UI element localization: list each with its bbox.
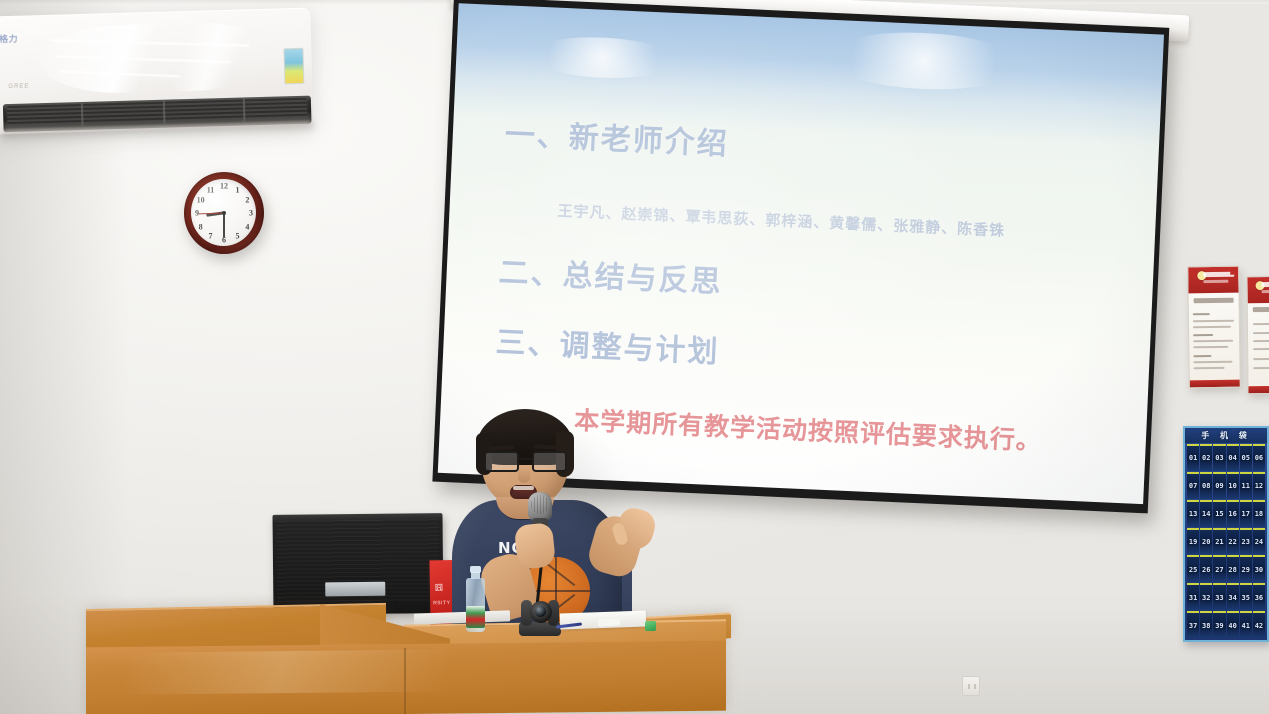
pocket-cell: 41: [1240, 611, 1252, 638]
poster-line: [1252, 323, 1269, 325]
pocket-cell: 25: [1187, 555, 1199, 582]
poster-header-subtext: [1261, 290, 1269, 293]
outlet-slot: [968, 684, 970, 689]
glasses-bridge: [519, 458, 532, 460]
pocket-cell: 19: [1187, 528, 1199, 555]
poster-line: [1253, 339, 1269, 341]
pocket-cell: 17: [1240, 500, 1252, 527]
ptz-camera: [519, 598, 561, 636]
poster-line: [1193, 340, 1233, 343]
pocket-cell: 30: [1253, 555, 1265, 582]
pocket-chart-title: 手 机 袋: [1185, 428, 1267, 443]
slide-cloud: [823, 29, 1025, 94]
ac-brand-logo: 格力: [0, 32, 18, 45]
clock-numeral: 1: [236, 185, 240, 194]
pocket-chart-grid: 0102030405060708091011121314151617181920…: [1187, 444, 1265, 638]
small-white-object: [598, 618, 620, 626]
bottle-label: [466, 606, 485, 628]
wall-clock: 121234567891011: [184, 172, 264, 254]
pocket-cell: 14: [1200, 500, 1212, 527]
slide-names-line: 王宇凡、赵崇锦、覃韦思荻、郭梓涵、黄馨儒、张雅静、陈香铢: [557, 200, 1006, 241]
pocket-cell: 28: [1227, 555, 1239, 582]
pocket-cell: 07: [1187, 472, 1199, 499]
clock-numeral: 8: [199, 222, 203, 231]
pocket-cell: 35: [1240, 583, 1252, 610]
clock-numeral: 3: [249, 209, 253, 218]
pocket-cell: 01: [1187, 444, 1199, 471]
poster-line: [1253, 331, 1269, 333]
poster-line: [1193, 326, 1231, 329]
poster-line: [1193, 355, 1211, 357]
poster-line: [1193, 334, 1213, 336]
poster-title-bar: [1194, 298, 1234, 304]
poster-left: [1187, 266, 1241, 389]
poster-footer: [1190, 380, 1240, 388]
slide-heading-3-text: 调整与计划: [559, 328, 720, 370]
poster-line: [1193, 313, 1210, 315]
slide-heading-3: 三、调整与计划: [495, 317, 721, 371]
clock-numeral: 4: [245, 222, 249, 231]
ac-vent-grill: [7, 98, 307, 126]
pocket-cell: 24: [1253, 528, 1265, 555]
slide-heading-1-text: 新老师介绍: [568, 120, 729, 162]
glasses-lens-right: [532, 451, 567, 472]
poster-line: [1253, 358, 1269, 360]
pocket-cell: 31: [1187, 583, 1199, 610]
pocket-cell: 23: [1240, 528, 1252, 555]
clock-numeral: 5: [236, 232, 240, 241]
water-bottle: [466, 566, 485, 632]
presenter-teeth: [513, 486, 534, 490]
pocket-cell: 02: [1200, 444, 1212, 471]
slide-heading-3-number: 三、: [495, 325, 560, 363]
pocket-cell: 15: [1213, 500, 1225, 527]
poster-title-bar: [1252, 307, 1269, 312]
clock-numeral: 12: [220, 182, 228, 191]
poster-line: [1194, 366, 1225, 368]
poster-line: [1193, 360, 1232, 363]
pocket-cell: 39: [1213, 611, 1225, 638]
clock-numeral: 7: [209, 232, 213, 241]
pocket-cell: 32: [1200, 583, 1212, 610]
poster-right: [1246, 276, 1269, 394]
microphone-head: [528, 492, 552, 520]
phone-pocket-chart: 手 机 袋 0102030405060708091011121314151617…: [1183, 426, 1269, 642]
glasses-lens-left: [484, 451, 519, 472]
slide-cloud: [526, 35, 678, 82]
microphone-mesh: [531, 495, 549, 514]
green-desk-object: [645, 621, 656, 631]
classroom-scene: 格力 GREE 121234567891011: [0, 0, 1269, 714]
pocket-cell: 22: [1227, 528, 1239, 555]
poster-corner: [1230, 268, 1237, 275]
pocket-cell: 10: [1227, 472, 1239, 499]
clock-minute-hand: [223, 213, 225, 238]
pocket-cell: 36: [1253, 583, 1265, 610]
ac-sub-logo: GREE: [8, 83, 29, 90]
pocket-cell: 37: [1187, 611, 1199, 638]
clock-numeral: 11: [207, 185, 215, 194]
clock-numeral: 2: [245, 195, 249, 204]
pocket-cell: 29: [1240, 555, 1252, 582]
slide-heading-1-number: 一、: [504, 117, 569, 155]
pocket-cell: 34: [1227, 583, 1239, 610]
pocket-cell: 12: [1253, 472, 1265, 499]
poster-line: [1253, 367, 1269, 369]
outlet-slot: [974, 684, 976, 689]
pocket-cell: 21: [1213, 528, 1225, 555]
ac-energy-label: [283, 48, 304, 85]
wall-outlet: [962, 676, 980, 696]
poster-line: [1193, 320, 1234, 323]
pocket-cell: 27: [1213, 555, 1225, 582]
poster-line: [1193, 346, 1228, 348]
presenter-left-hand: [514, 522, 556, 570]
pocket-cell: 16: [1227, 500, 1239, 527]
pocket-cell: 26: [1200, 555, 1212, 582]
pocket-cell: 06: [1253, 444, 1265, 471]
presenter-nose: [518, 467, 530, 483]
pocket-cell: 20: [1200, 528, 1212, 555]
pocket-cell: 09: [1213, 472, 1225, 499]
poster-header-text: [1261, 282, 1269, 287]
pocket-cell: 04: [1227, 444, 1239, 471]
lectern-sheen: [126, 647, 646, 694]
clock-center-pin: [222, 211, 226, 215]
poster-line: [1253, 348, 1269, 350]
pocket-cell: 08: [1200, 472, 1212, 499]
pocket-cell: 11: [1240, 472, 1252, 499]
poster-corner: [1249, 278, 1256, 285]
slide-heading-2-text: 总结与反思: [562, 258, 723, 300]
pocket-cell: 13: [1187, 500, 1199, 527]
poster-corner: [1189, 268, 1196, 275]
air-conditioner: 格力 GREE: [0, 8, 314, 135]
camera-lens: [535, 606, 546, 617]
pocket-cell: 33: [1213, 583, 1225, 610]
monitor-label: [325, 582, 385, 597]
slide-heading-1: 一、新老师介绍: [504, 109, 730, 163]
slide-heading-2: 二、总结与反思: [498, 247, 724, 301]
pocket-cell: 40: [1227, 611, 1239, 638]
poster-footer: [1248, 386, 1269, 393]
pocket-cell: 05: [1240, 444, 1252, 471]
slide-heading-2-number: 二、: [498, 255, 563, 293]
clock-numeral: 10: [197, 195, 205, 204]
pocket-cell: 18: [1253, 500, 1265, 527]
poster-header-subtext: [1203, 280, 1228, 283]
lectern-seam: [404, 648, 406, 714]
pocket-cell: 38: [1200, 611, 1212, 638]
pocket-cell: 42: [1253, 611, 1265, 638]
pocket-cell: 03: [1213, 444, 1225, 471]
